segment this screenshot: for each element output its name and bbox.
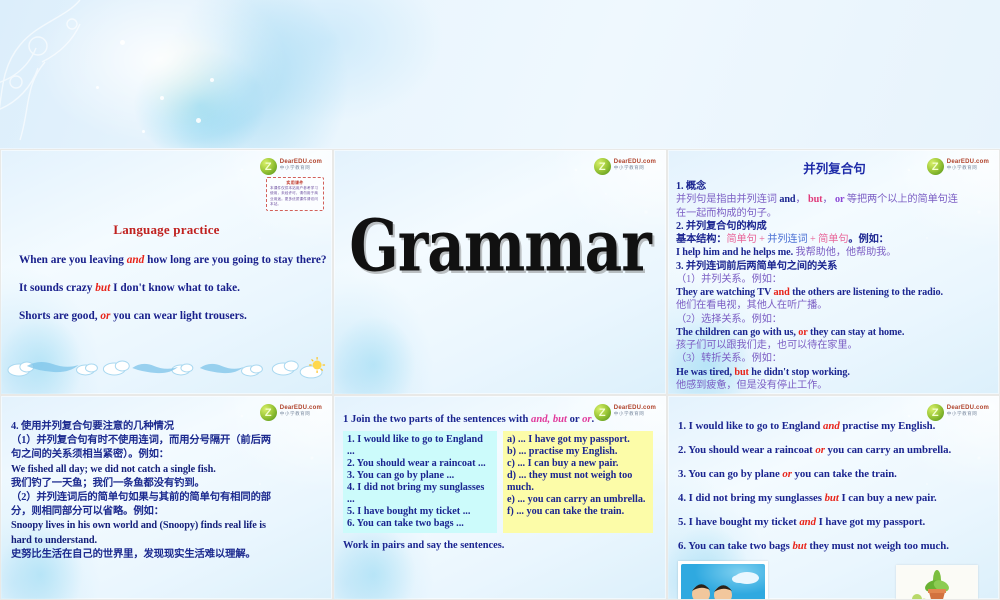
conjunction-and: and [774, 287, 790, 298]
exercise-left-box[interactable]: 1. I would like to go to England ... 2. … [343, 431, 497, 533]
answer-row: 1. I would like to go to England and pra… [678, 420, 991, 432]
structure-tail: 。例如： [848, 234, 888, 245]
sentence-part-b: how long are you going to stay there? [144, 254, 326, 266]
watermark-subtitle: 中小学教育网 [280, 165, 322, 171]
dearedu-logo-icon [260, 404, 277, 421]
conjunction-and: and, [531, 414, 550, 425]
relation-label-2: （2）选择关系。例如： [676, 313, 993, 326]
answer-pre: 1. I would like to go to England [678, 420, 823, 432]
answer-pre: 4. I did not bring my sunglasses [678, 492, 825, 504]
answer-pre: 6. You can take two bags [678, 540, 792, 552]
answer-row: 5. I have bought my ticket and I have go… [678, 516, 991, 528]
example-chinese: 我帮助他，他帮助我。 [793, 247, 896, 258]
list-item: 5. I have bought my ticket ... [347, 506, 493, 518]
plus-sign: + [757, 234, 768, 245]
item-heading: 并列复合句的构成 [686, 221, 767, 232]
instruction-pre: 1 Join the two parts of the sentences wi… [343, 414, 531, 425]
notes2-example-2b: hard to understand. [11, 534, 324, 548]
conjunction-but: but [825, 492, 839, 504]
instruction-mid: or [567, 414, 582, 425]
example-pre: They are watching TV [676, 287, 774, 298]
exercise-footer: Work in pairs and say the sentences. [343, 540, 658, 551]
note-item-2: 2. 并列复合句的构成 [676, 220, 993, 233]
dearedu-logo-icon [594, 158, 611, 175]
notes2-example-1: We fished all day; we did not catch a si… [11, 463, 324, 477]
answer-row: 2. You should wear a raincoat or you can… [678, 444, 991, 456]
answer-pre: 5. I have bought my ticket [678, 516, 799, 528]
sentence-part-b: I don't know what to take. [110, 282, 240, 294]
conjunction-but: but [95, 282, 110, 294]
item-heading: 并列连词前后两简单句之间的关系 [686, 261, 837, 272]
exercise-right-box[interactable]: a) ... I have got my passport. b) ... pr… [503, 431, 653, 533]
conjunction-or: or [782, 468, 792, 480]
structure-label: 基本结构： [676, 234, 726, 245]
answer-post: practise my English. [840, 420, 936, 432]
example-pre: The children can go with us, [676, 327, 798, 338]
conjunction-but: but [550, 414, 567, 425]
conjunction-or: or [815, 444, 825, 456]
example-post: they can stay at home. [808, 327, 905, 338]
answer-post: you can take the train. [792, 468, 897, 480]
note-definition-line1: 并列句是指由并列连词 and， but， or 等把两个以上的简单句连 [676, 193, 993, 206]
practice-sentence-1: When are you leaving and how long are yo… [19, 238, 332, 266]
answer-row: 3. You can go by plane or you can take t… [678, 468, 991, 480]
list-item: 1. I would like to go to England ... [347, 434, 493, 458]
note-example-0: I help him and he helps me. 我帮助他，他帮助我。 [676, 246, 993, 259]
example-post: the others are listening to the radio. [790, 287, 943, 298]
conjunction-or: or [100, 310, 110, 322]
list-item: 6. You can take two bags ... [347, 518, 493, 530]
relation-example-1: They are watching TV and the others are … [676, 286, 993, 299]
notes2-example-2a: Snoopy lives in his own world and (Snoop… [11, 519, 324, 533]
note-structure-line: 基本结构：简单句 + 并列连词 + 简单句。例如： [676, 233, 993, 246]
structure-part-3: 简单句 [818, 234, 848, 245]
practice-sentence-2: It sounds crazy but I don't know what to… [19, 266, 332, 294]
conjunction-and: and [779, 194, 795, 205]
structure-part-2: 并列连词 [767, 234, 807, 245]
answer-pre: 3. You can go by plane [678, 468, 782, 480]
text-post: 等把两个以上的简单句连 [844, 194, 957, 205]
note-definition-line2: 在一起而构成的句子。 [676, 207, 993, 220]
page-title: Language practice [1, 222, 332, 238]
conjunction-or: or [798, 327, 807, 338]
watermark-note-body: 本课件仅供本站用户参考学习使用，未经许可，请勿用于商业用途。更多优质课件请访问本… [270, 186, 320, 208]
dearedu-logo-icon [260, 158, 277, 175]
slide-join-answers[interactable]: DearEDU.com 中小学教育网 1. I would like to go… [667, 395, 1000, 600]
list-item: 2. You should wear a raincoat ... [347, 458, 493, 470]
separator: ， [822, 194, 835, 205]
watermark-subtitle: 中小学教育网 [280, 411, 322, 417]
practice-sentence-3: Shorts are good, or you can wear light t… [19, 294, 332, 322]
decorative-header-banner [0, 0, 1000, 148]
item-number: 3. [676, 261, 683, 272]
example-post: he didn't stop working. [749, 367, 850, 378]
plus-sign: + [808, 234, 819, 245]
relation-example-3: He was tired, but he didn't stop working… [676, 366, 993, 379]
dearedu-logo-icon [927, 404, 944, 421]
cloud-decoration-row [1, 354, 332, 380]
notes2-line-1: 4. 使用并列复合句要注意的几种情况 [11, 420, 324, 434]
watermark-note-box: 实用课件 本课件仅供本站用户参考学习使用，未经许可，请勿用于商业用途。更多优质课… [266, 177, 324, 211]
slide-language-practice[interactable]: DearEDU.com 中小学教育网 实用课件 本课件仅供本站用户参考学习使用，… [0, 149, 333, 395]
conjunction-and: and [823, 420, 840, 432]
watermark-logo: DearEDU.com 中小学教育网 [927, 404, 989, 421]
notes2-line-4: （2）并列连词后的简单句如果与其前的简单句有相同的部 [11, 491, 324, 505]
watermark-logo: DearEDU.com 中小学教育网 [594, 404, 656, 421]
sentence-part-a: Shorts are good, [19, 310, 100, 322]
conjunction-but: but [792, 540, 806, 552]
note-item-3: 3. 并列连词前后两简单句之间的关系 [676, 260, 993, 273]
watermark-logo: DearEDU.com 中小学教育网 [260, 404, 322, 421]
relation-example-2: The children can go with us, or they can… [676, 326, 993, 339]
watermark-subtitle: 中小学教育网 [614, 411, 656, 417]
watermark-logo: DearEDU.com 中小学教育网 [594, 158, 656, 175]
floral-swirl-icon [0, 0, 210, 148]
slides-grid: DearEDU.com 中小学教育网 实用课件 本课件仅供本站用户参考学习使用，… [0, 149, 1000, 600]
relation-translation-2: 孩子们可以跟我们走，也可以待在家里。 [676, 339, 993, 352]
text-pre: 并列句是指由并列连词 [676, 194, 779, 205]
relation-label-1: （1）并列关系。例如： [676, 273, 993, 286]
note-item-1: 1. 概念 [676, 180, 993, 193]
answer-post: you can carry an umbrella. [825, 444, 951, 456]
item-heading: 概念 [686, 181, 706, 192]
item-number: 1. [676, 181, 683, 192]
answer-post: they must not weigh too much. [807, 540, 949, 552]
relation-translation-1: 他们在看电视，其他人在听广播。 [676, 299, 993, 312]
list-item: c) ... I can buy a new pair. [507, 458, 649, 470]
slide-join-exercise[interactable]: DearEDU.com 中小学教育网 1 Join the two parts … [333, 395, 667, 600]
conjunction-but: but [808, 194, 822, 205]
list-item: d) ... they must not weigh too much. [507, 470, 649, 494]
list-item: b) ... practise my English. [507, 446, 649, 458]
watermark-logo: DearEDU.com 中小学教育网 [927, 158, 989, 175]
list-item: 4. I did not bring my sunglasses ... [347, 482, 493, 506]
watermark-subtitle: 中小学教育网 [947, 165, 989, 171]
list-item: e) ... you can carry an umbrella. [507, 494, 649, 506]
slide-compound-sentence-notes-2[interactable]: DearEDU.com 中小学教育网 4. 使用并列复合句要注意的几种情况 （1… [0, 395, 333, 600]
relation-label-3: （3）转折关系。例如： [676, 352, 993, 365]
example-pre: He was tired, [676, 367, 734, 378]
slide-grid-page: DearEDU.com 中小学教育网 实用课件 本课件仅供本站用户参考学习使用，… [0, 0, 1000, 600]
watermark-subtitle: 中小学教育网 [614, 165, 656, 171]
watermark-subtitle: 中小学教育网 [947, 411, 989, 417]
watermark-logo: DearEDU.com 中小学教育网 [260, 158, 322, 175]
dearedu-logo-icon [927, 158, 944, 175]
answer-row: 4. I did not bring my sunglasses but I c… [678, 492, 991, 504]
notes2-line-3: 句之间的关系须相当紧密）。例如： [11, 448, 324, 462]
slide-grammar-title[interactable]: DearEDU.com 中小学教育网 Grammar [333, 149, 667, 395]
answer-post: I can buy a new pair. [839, 492, 937, 504]
grammar-wordart-title: Grammar [334, 205, 666, 288]
dearedu-logo-icon [594, 404, 611, 421]
sentence-part-b: you can wear light trousers. [110, 310, 246, 322]
list-item: 3. You can go by plane ... [347, 470, 493, 482]
answer-row: 6. You can take two bags but they must n… [678, 540, 991, 552]
list-item: a) ... I have got my passport. [507, 434, 649, 446]
example-english: I help him and he helps me. [676, 247, 793, 258]
relation-translation-3: 他感到疲惫，但是没有停止工作。 [676, 379, 993, 392]
separator: ， [795, 194, 808, 205]
conjunction-and: and [127, 254, 145, 266]
notes2-translation-2: 史努比生活在自己的世界里，发现现实生活难以理解。 [11, 548, 324, 562]
answer-post: I have got my passport. [816, 516, 925, 528]
item-number: 2. [676, 221, 683, 232]
notes2-line-2: （1）并列复合句有时不使用连词，而用分号隔开（前后两 [11, 434, 324, 448]
conjunction-and: and [799, 516, 816, 528]
conjunction-but: but [734, 367, 748, 378]
sentence-part-a: When are you leaving [19, 254, 127, 266]
answer-pre: 2. You should wear a raincoat [678, 444, 815, 456]
sentence-part-a: It sounds crazy [19, 282, 95, 294]
notes2-translation-1: 我们钓了一天鱼；我们一条鱼都没有钓到。 [11, 477, 324, 491]
slide-compound-sentence-notes[interactable]: DearEDU.com 中小学教育网 并列复合句 1. 概念 并列句是指由并列连… [667, 149, 1000, 395]
conjunction-or: or [835, 194, 844, 205]
notes2-line-5: 分，则相同部分可以省略。例如： [11, 505, 324, 519]
list-item: f) ... you can take the train. [507, 506, 649, 518]
structure-part-1: 简单句 [726, 234, 756, 245]
